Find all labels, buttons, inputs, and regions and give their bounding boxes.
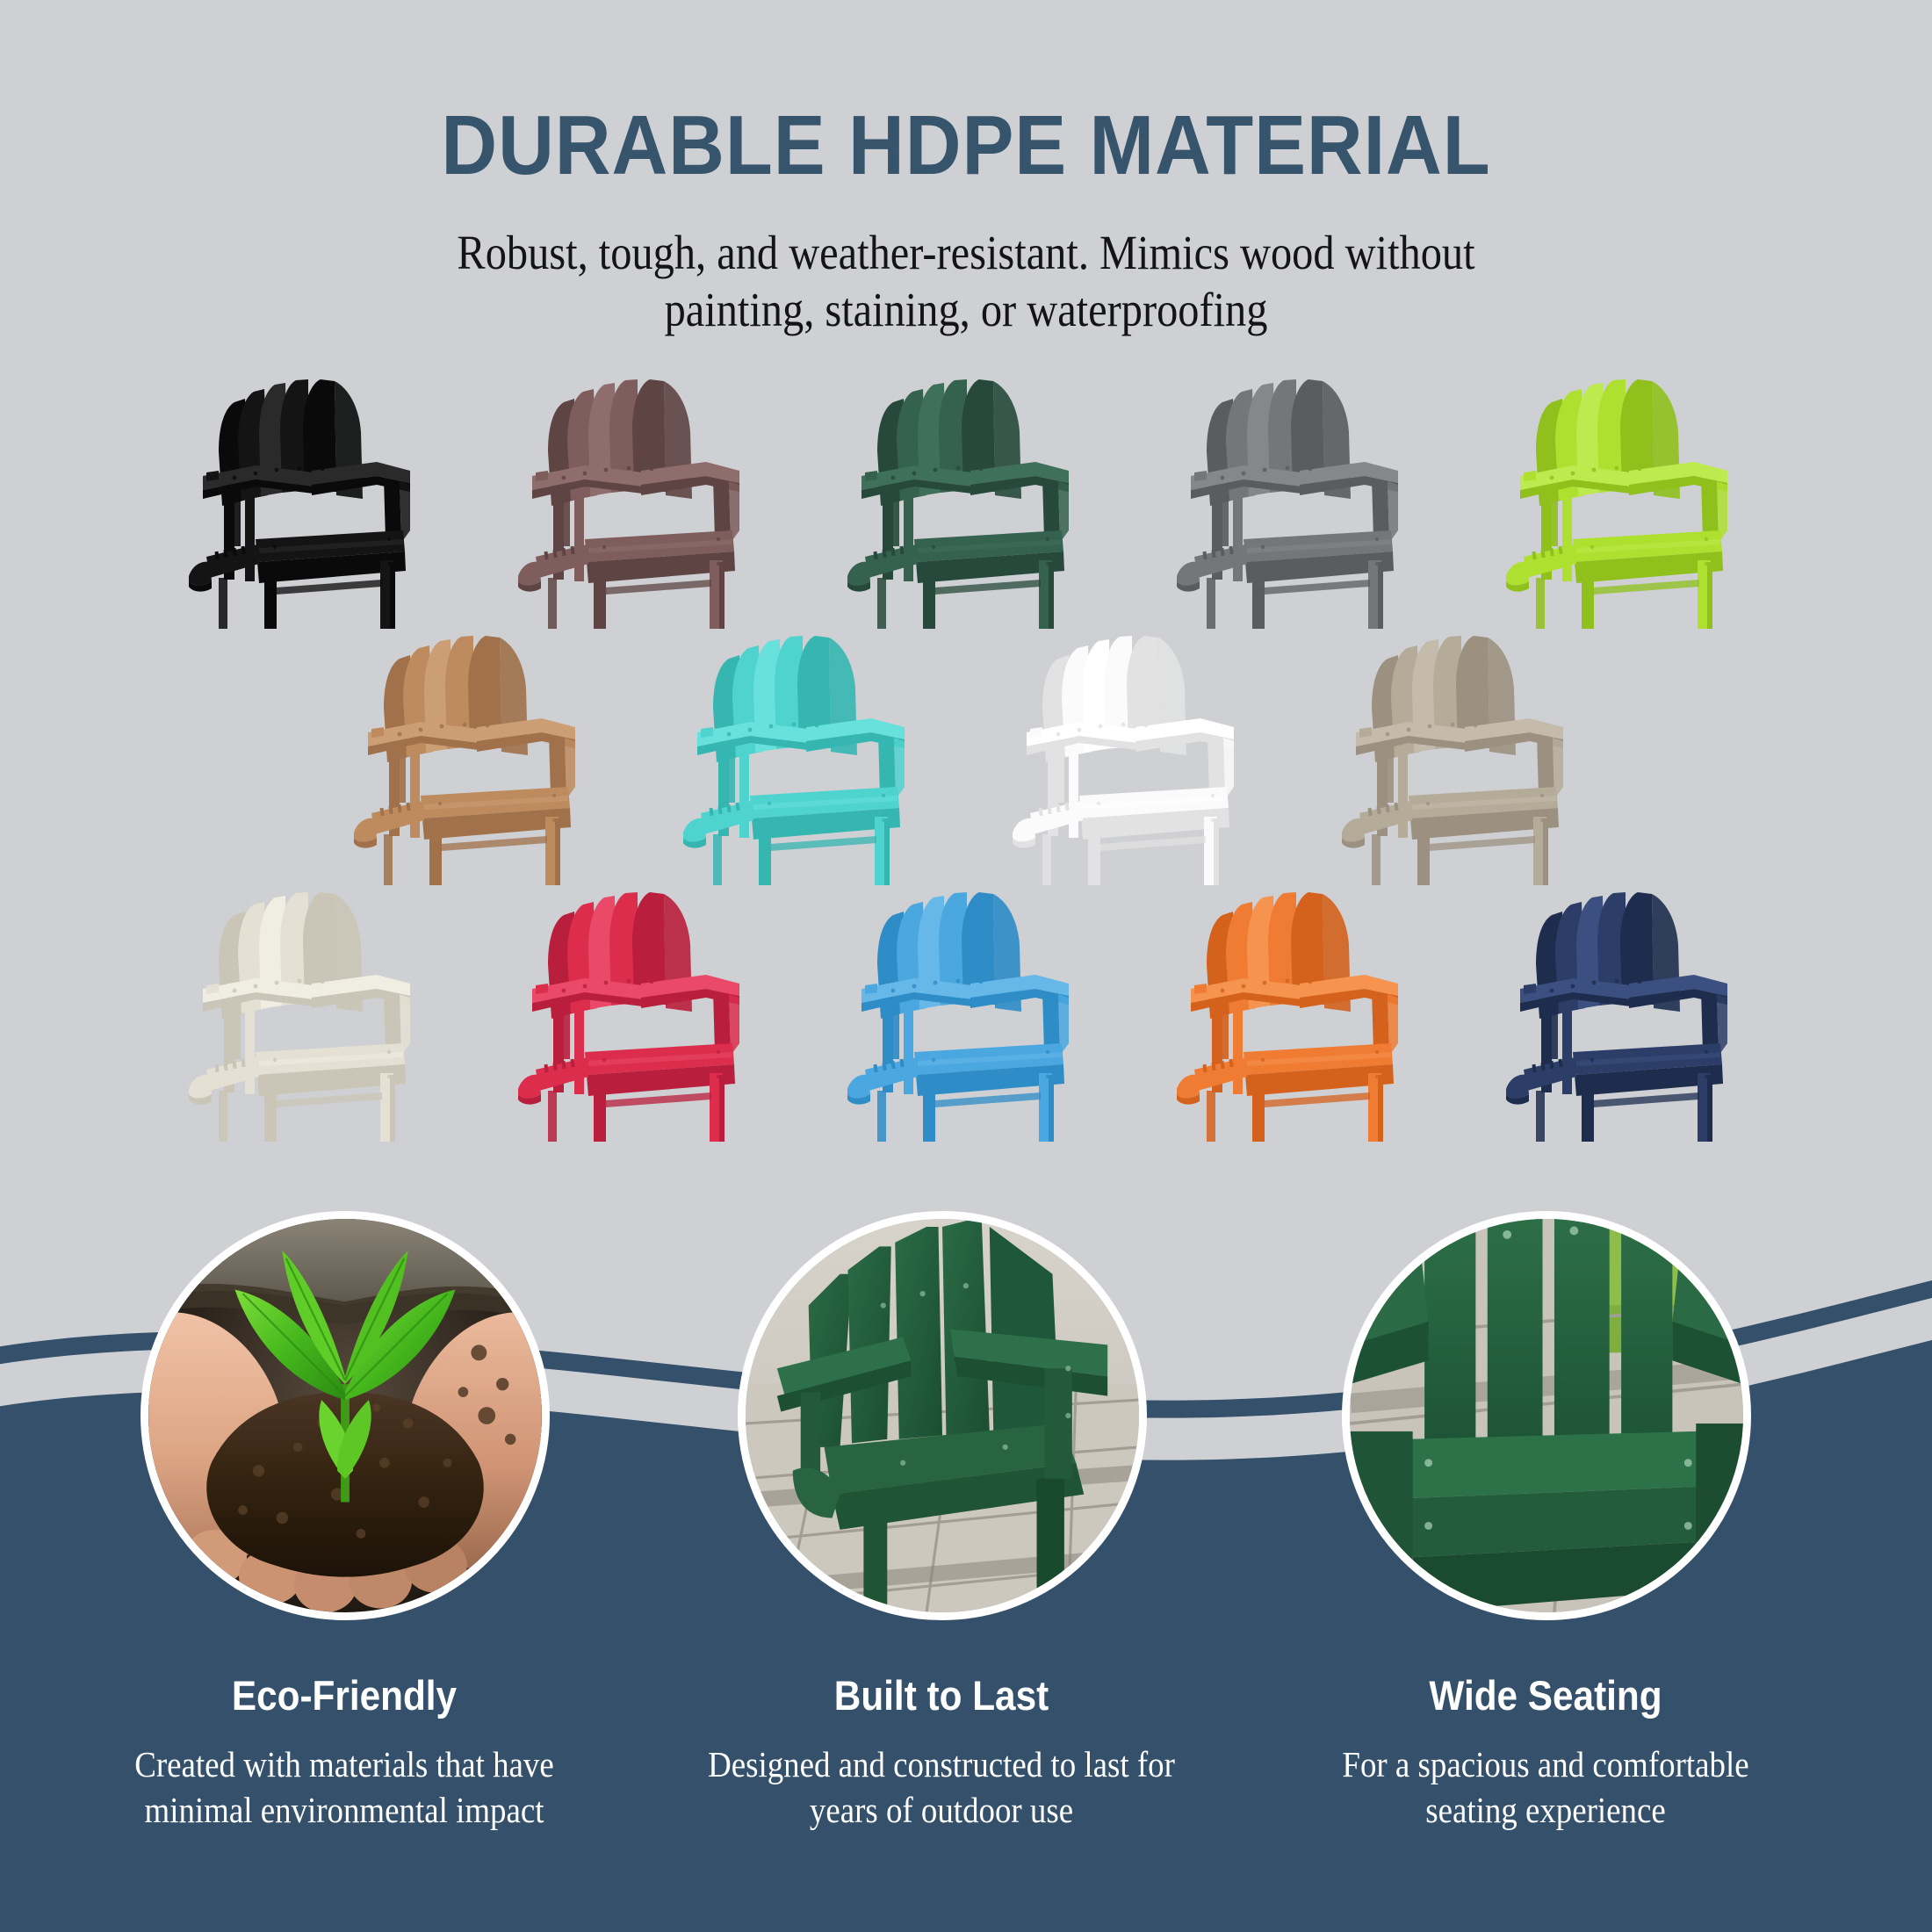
feature-text-eco-friendly: Eco-Friendly Created with materials that… xyxy=(72,1673,616,1834)
chair-illustration xyxy=(509,367,764,631)
chair-row-3 xyxy=(0,880,1932,1143)
page-title: DURABLE HDPE MATERIAL xyxy=(77,0,1855,188)
chair-swatch-white[interactable] xyxy=(1004,624,1258,887)
chair-swatch-light-blue[interactable] xyxy=(839,880,1093,1143)
chair-swatch-taupe[interactable] xyxy=(1333,624,1588,887)
chair-illustration xyxy=(1497,880,1752,1143)
chair-illustration xyxy=(1497,367,1752,631)
feature-title-built-to-last: Built to Last xyxy=(696,1673,1186,1719)
green-chair-wide-seat-icon xyxy=(1350,1219,1743,1612)
chair-illustration xyxy=(1004,624,1258,887)
chair-illustration xyxy=(509,880,764,1143)
chair-illustration xyxy=(1168,880,1423,1143)
chair-row-1 xyxy=(0,367,1932,631)
chair-illustration xyxy=(839,367,1093,631)
feature-image-built-to-last xyxy=(738,1211,1147,1620)
chair-swatch-turquoise[interactable] xyxy=(674,624,929,887)
chair-swatch-teak[interactable] xyxy=(345,624,600,887)
feature-image-wide-seating xyxy=(1342,1211,1751,1620)
header: DURABLE HDPE MATERIAL Robust, tough, and… xyxy=(0,0,1932,339)
chair-illustration xyxy=(180,367,435,631)
feature-text-wide-seating: Wide Seating For a spacious and comforta… xyxy=(1273,1673,1818,1834)
page-subtitle: Robust, tough, and weather-resistant. Mi… xyxy=(378,188,1554,339)
chair-illustration xyxy=(180,880,435,1143)
chair-swatch-brown[interactable] xyxy=(509,367,764,631)
chair-swatch-black[interactable] xyxy=(180,367,435,631)
chair-illustration xyxy=(839,880,1093,1143)
feature-description-eco-friendly: Created with materials that have minimal… xyxy=(99,1741,589,1834)
chair-swatch-gray[interactable] xyxy=(1168,367,1423,631)
chair-swatch-navy[interactable] xyxy=(1497,880,1752,1143)
feature-text-built-to-last: Built to Last Designed and constructed t… xyxy=(669,1673,1214,1834)
chair-illustration xyxy=(1333,624,1588,887)
feature-description-built-to-last: Designed and constructed to last for yea… xyxy=(696,1741,1186,1834)
chair-color-grid xyxy=(0,367,1932,1143)
chair-swatch-dark-green[interactable] xyxy=(839,367,1093,631)
green-chair-patio-icon xyxy=(746,1219,1139,1612)
chair-swatch-orange[interactable] xyxy=(1168,880,1423,1143)
chair-swatch-red[interactable] xyxy=(509,880,764,1143)
chair-illustration xyxy=(1168,367,1423,631)
feature-title-wide-seating: Wide Seating xyxy=(1301,1673,1791,1719)
feature-description-wide-seating: For a spacious and comfortable seating e… xyxy=(1301,1741,1791,1834)
chair-row-2 xyxy=(0,624,1932,887)
chair-illustration xyxy=(345,624,600,887)
feature-title-eco-friendly: Eco-Friendly xyxy=(99,1673,589,1719)
chair-swatch-lime-green[interactable] xyxy=(1497,367,1752,631)
hands-soil-seedling-icon xyxy=(148,1219,542,1612)
chair-illustration xyxy=(674,624,929,887)
chair-swatch-ivory[interactable] xyxy=(180,880,435,1143)
feature-image-eco-friendly xyxy=(141,1211,550,1620)
